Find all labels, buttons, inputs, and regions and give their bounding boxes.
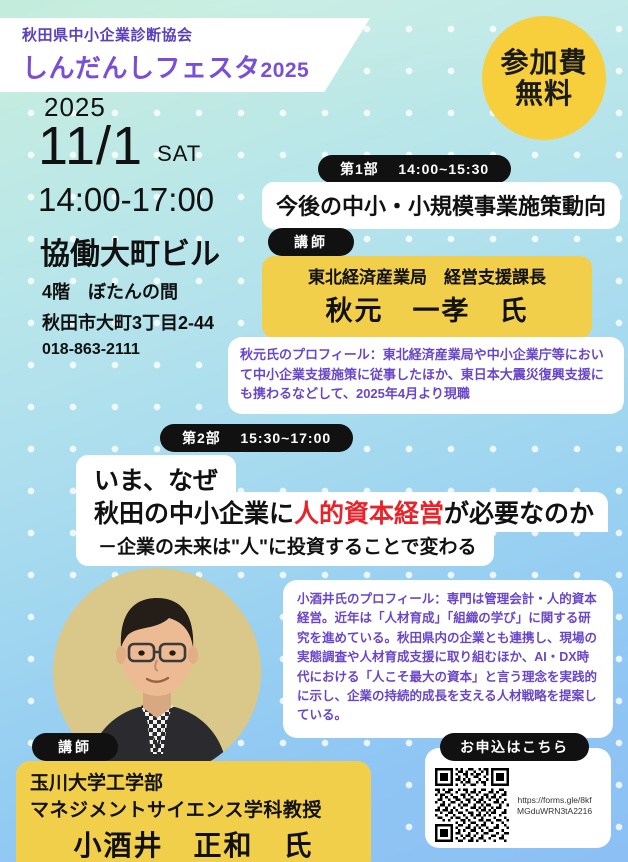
part2-badge-label: 第2部 (182, 430, 221, 446)
part1-title: 今後の中小・小規模事業施策動向 (262, 182, 620, 229)
part1-badge-label: 第1部 (340, 161, 379, 177)
part2-speaker-card: 玉川大学工学部 マネジメントサイエンス学科教授 小酒井 正和 氏 (16, 761, 371, 862)
part2-speaker-profile: 小酒井氏のプロフィール：専門は管理会計・人的資本経営。近年は「人材育成」「組織の… (283, 580, 613, 738)
qr-code-icon[interactable] (435, 768, 509, 842)
event-address: 秋田市大町3丁目2-44 (42, 309, 270, 335)
page-title: しんだんしフェスタ2025 (22, 48, 309, 85)
part2-speaker-label: 講師 (32, 733, 118, 761)
part2-title-line2-post: が必要なのか (444, 500, 594, 528)
event-title-text: しんだんしフェスタ (22, 53, 261, 83)
apply-url: https://forms.gle/8kf MGduWRN3tA2216 (517, 795, 592, 818)
fee-badge-line1: 参加費 (500, 47, 587, 78)
event-room: 4階 ぼたんの間 (42, 278, 270, 304)
part2-title-line2: 秋田の中小企業に人的資本経営が必要なのか (76, 492, 608, 532)
part2-badge: 第2部 15:30~17:00 (160, 424, 353, 452)
event-info-block: 2025 11/1 SAT 14:00-17:00 協働大町ビル 4階 ぼたんの… (0, 92, 270, 359)
event-date-row: 11/1 SAT (38, 119, 270, 173)
part1-speaker-profile: 秋元氏のプロフィール：東北経済産業局や中小企業庁等において中小企業支援施策に従事… (228, 337, 624, 414)
part1-speaker-name: 秋元 一孝 氏 (272, 289, 582, 328)
event-title-year: 2025 (261, 59, 310, 82)
fee-badge: 参加費 無料 (482, 16, 606, 140)
part1-speaker-card: 東北経済産業局 経営支援課長 秋元 一孝 氏 (262, 256, 592, 338)
apply-url-line2: MGduWRN3tA2216 (517, 806, 592, 816)
event-time: 14:00-17:00 (38, 181, 270, 219)
part2-speaker-name: 小酒井 正和 氏 (30, 824, 357, 862)
part2-speaker-org-line2: マネジメントサイエンス学科教授 (30, 795, 357, 822)
part2-title-highlight: 人的資本経営 (294, 500, 444, 528)
part2-title-line2-pre: 秋田の中小企業に (94, 500, 294, 528)
event-poster: 秋田県中小企業診断協会 しんだんしフェスタ2025 参加費 無料 2025 11… (0, 0, 628, 862)
part2-title-line3: －企業の未来は"人"に投資することで変わる (76, 530, 494, 566)
organization-name: 秋田県中小企業診断協会 (22, 24, 193, 45)
apply-url-line1: https://forms.gle/8kf (517, 795, 591, 805)
event-day-of-week: SAT (157, 141, 201, 173)
part1-speaker-label: 講師 (268, 228, 354, 256)
part2-speaker-org-line1: 玉川大学工学部 (30, 768, 357, 795)
fee-badge-line2: 無料 (515, 78, 573, 109)
event-date: 11/1 (38, 119, 143, 173)
part1-badge: 第1部 14:00~15:30 (318, 155, 511, 183)
part1-badge-time: 14:00~15:30 (398, 161, 489, 177)
apply-label: お申込はこちら (440, 733, 589, 761)
part1-speaker-org: 東北経済産業局 経営支援課長 (272, 263, 582, 288)
event-venue: 協働大町ビル (40, 229, 270, 273)
apply-card[interactable]: https://forms.gle/8kf MGduWRN3tA2216 (425, 748, 611, 848)
part2-badge-time: 15:30~17:00 (240, 430, 331, 446)
